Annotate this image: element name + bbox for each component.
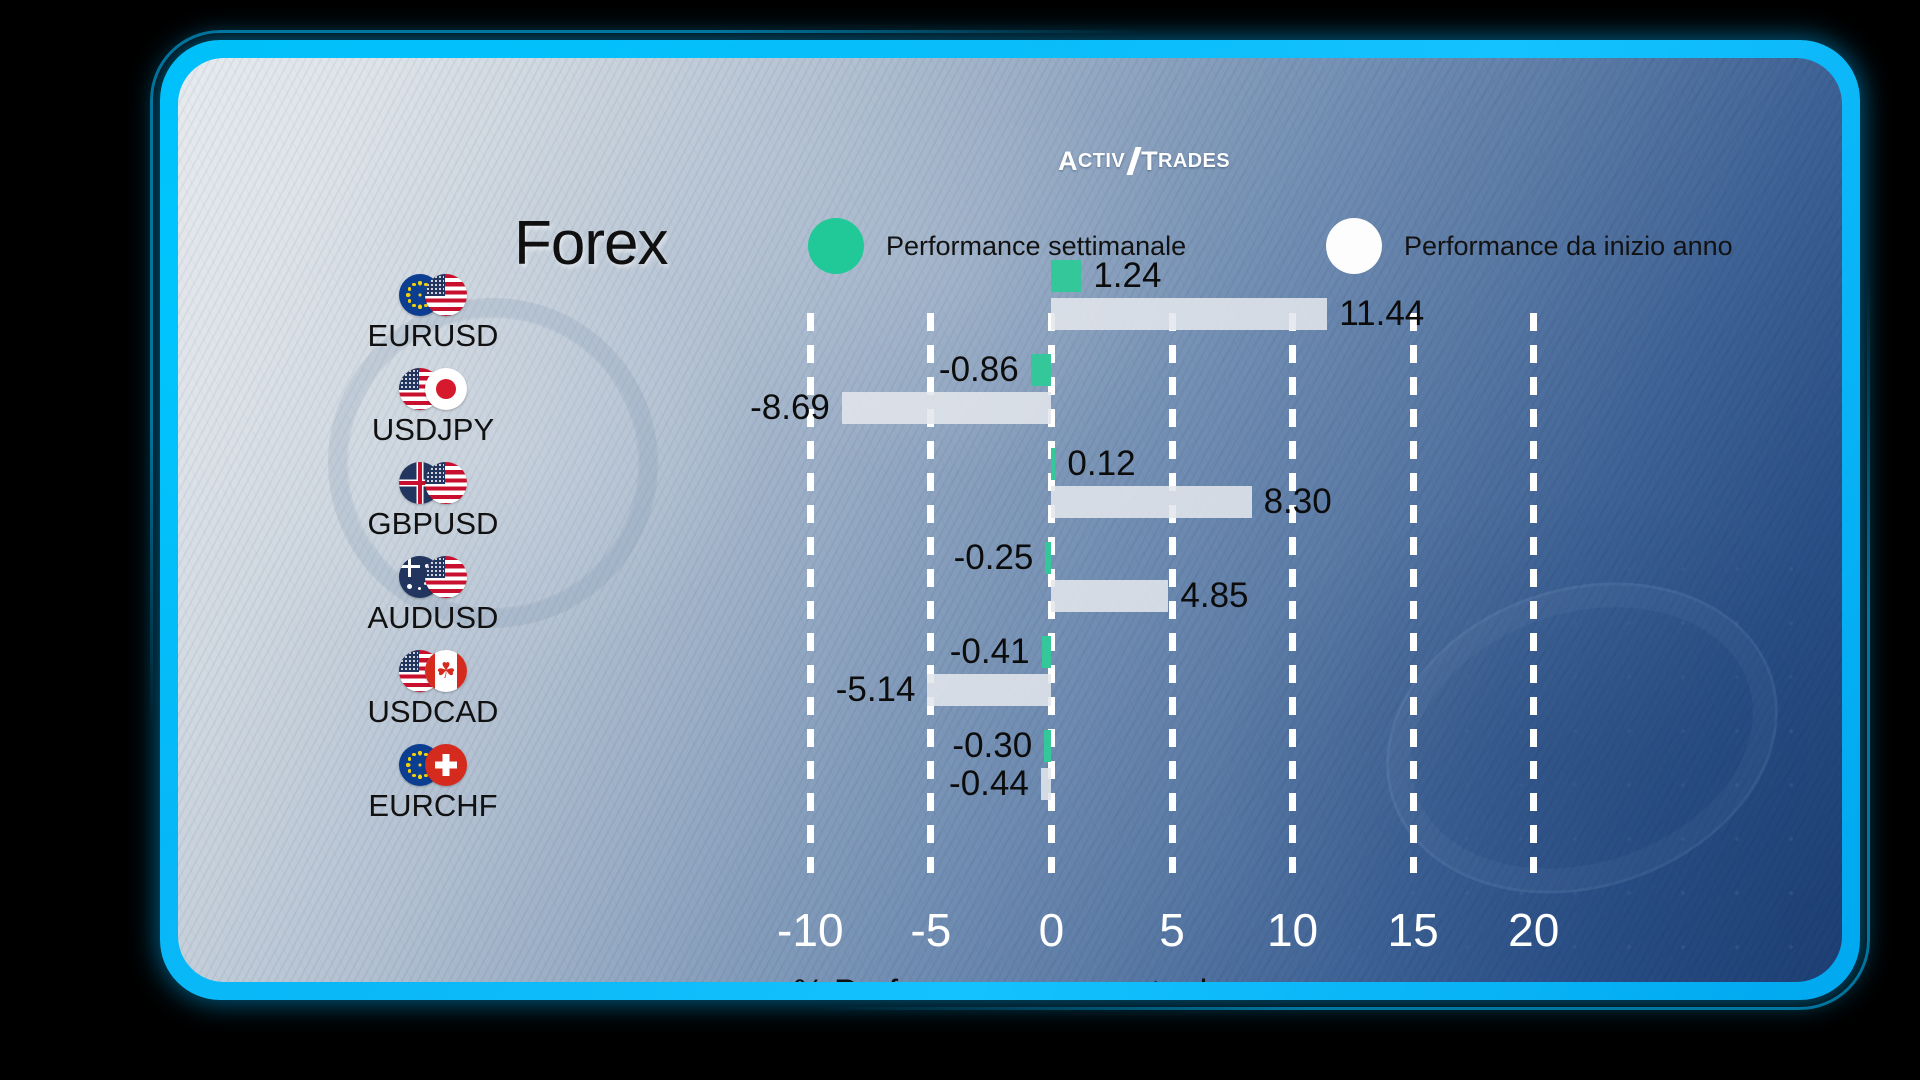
currency-pair-label: AUDUSD (298, 600, 568, 636)
bar-value-label: -0.41 (950, 636, 1030, 668)
gridline-15 (1410, 313, 1417, 873)
currency-pair-label: GBPUSD (298, 506, 568, 542)
bar-value-label: 1.24 (1093, 260, 1161, 292)
currency-pair-label: USDJPY (298, 412, 568, 448)
bar-weekly (1031, 354, 1052, 386)
us-flag-icon (425, 556, 467, 598)
bar-value-label: -0.25 (954, 542, 1034, 574)
x-tick-label: -5 (910, 903, 951, 957)
bar-ytd (1041, 768, 1052, 800)
bar-weekly (1042, 636, 1052, 668)
x-tick-label: 15 (1388, 903, 1439, 957)
x-tick-label: 0 (1039, 903, 1065, 957)
chart-x-axis-title: % Performance percentuale (178, 973, 1842, 982)
ch-flag-icon (425, 744, 467, 786)
currency-pair-flags (298, 366, 568, 412)
bar-ytd (1051, 486, 1251, 518)
currency-pair-flags (298, 742, 568, 788)
currency-pair-flags (298, 460, 568, 506)
bar-value-label: 11.44 (1339, 298, 1424, 330)
us-flag-icon (425, 462, 467, 504)
bar-ytd (1051, 580, 1168, 612)
bar-ytd (1051, 298, 1327, 330)
bar-value-label: 4.85 (1180, 580, 1248, 612)
bar-ytd (927, 674, 1051, 706)
bar-chart-plot: -10-505101520 EURUSD1.2411.44USDJPY-0.86… (178, 58, 1842, 982)
x-tick-label: 5 (1159, 903, 1185, 957)
bar-value-label: 0.12 (1067, 448, 1135, 480)
currency-pair-label: EURCHF (298, 788, 568, 824)
jp-flag-icon (425, 368, 467, 410)
bar-value-label: 8.30 (1264, 486, 1332, 518)
x-tick-label: 20 (1508, 903, 1559, 957)
bar-weekly (1045, 542, 1051, 574)
currency-pair-label: EURUSD (298, 318, 568, 354)
us-flag-icon (425, 274, 467, 316)
currency-pair-flags (298, 272, 568, 318)
currency-pair-flags (298, 554, 568, 600)
x-tick-label: 10 (1267, 903, 1318, 957)
gridline-10 (1289, 313, 1296, 873)
gridline-5 (1169, 313, 1176, 873)
x-tick-label: -10 (777, 903, 843, 957)
ca-flag-icon: ☘ (425, 650, 467, 692)
bar-value-label: -0.44 (949, 768, 1029, 800)
forex-performance-card: ACTIVTRADES Forex Performance settimanal… (178, 58, 1842, 982)
bar-weekly (1051, 448, 1055, 480)
bar-value-label: -8.69 (750, 392, 830, 424)
bar-value-label: -0.86 (939, 354, 1019, 386)
bar-ytd (842, 392, 1052, 424)
currency-pair-label: USDCAD (298, 694, 568, 730)
bar-weekly (1051, 260, 1081, 292)
bar-value-label: -0.30 (952, 730, 1032, 762)
bar-weekly (1044, 730, 1051, 762)
gridline-20 (1530, 313, 1537, 873)
currency-pair-flags: ☘ (298, 648, 568, 694)
bar-value-label: -5.14 (836, 674, 916, 706)
